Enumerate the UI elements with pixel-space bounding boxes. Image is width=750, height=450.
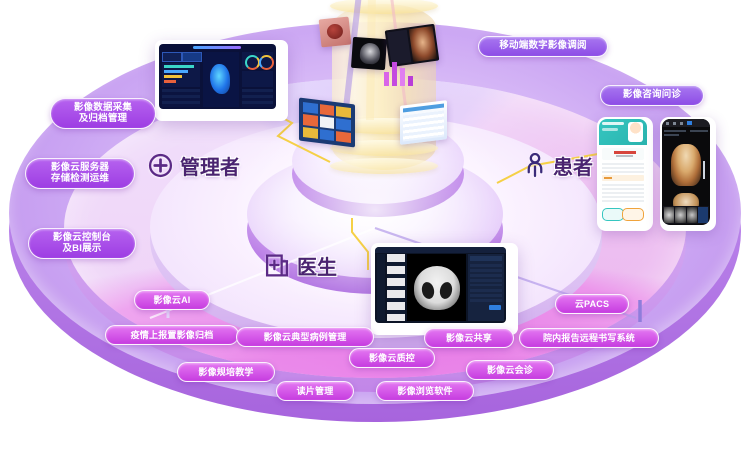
role-patient-label: 患者 bbox=[553, 151, 593, 180]
role-admin[interactable]: 管理者 bbox=[148, 151, 240, 180]
pill-doctor-cloud-sharing[interactable]: 影像云共享 bbox=[424, 328, 514, 348]
pill-doctor-epidemic-report[interactable]: 疫情上报置影像归档 bbox=[105, 325, 239, 345]
role-admin-label: 管理者 bbox=[180, 151, 240, 180]
infographic-canvas: 无极云 影像平台 管理者 患者 医生 bbox=[0, 0, 750, 450]
role-patient[interactable]: 患者 bbox=[524, 151, 593, 180]
pill-doctor-cloud-ai[interactable]: 影像云AI bbox=[134, 290, 210, 310]
device-phone-consult[interactable] bbox=[597, 117, 653, 231]
pill-admin-server-ops[interactable]: 影像云服务器 存储检测运维 bbox=[25, 158, 135, 189]
tower-screen-app-tiles bbox=[299, 98, 355, 148]
role-doctor[interactable]: 医生 bbox=[265, 251, 337, 280]
pill-doctor-typical-cases[interactable]: 影像云典型病例管理 bbox=[236, 327, 374, 347]
role-doctor-label: 医生 bbox=[297, 251, 337, 280]
medical-record-icon bbox=[265, 253, 290, 279]
pill-doctor-report-writing[interactable]: 院内报告远程书写系统 bbox=[519, 328, 659, 348]
platform-title-line1: 无极云 bbox=[318, 146, 488, 175]
tower-screen-datatable bbox=[400, 100, 447, 145]
person-icon bbox=[524, 153, 546, 178]
device-phone-3d-reconstruction[interactable] bbox=[660, 117, 716, 231]
pill-doctor-cloud-pacs[interactable]: 云PACS bbox=[555, 294, 629, 314]
platform-title-line2: 影像平台 bbox=[318, 175, 488, 204]
pill-doctor-training-teaching[interactable]: 影像规培教学 bbox=[177, 362, 275, 382]
device-pacs-viewer[interactable] bbox=[371, 243, 518, 335]
tower-screen-endoscopy bbox=[319, 17, 352, 48]
tower-screen-barchart bbox=[381, 50, 415, 92]
platform-title: 无极云 影像平台 bbox=[318, 146, 488, 204]
pill-patient-mobile-imaging[interactable]: 移动端数字影像调阅 bbox=[478, 36, 608, 57]
device-bi-dashboard[interactable] bbox=[155, 40, 288, 121]
pill-doctor-film-reading[interactable]: 读片管理 bbox=[276, 381, 354, 401]
pill-doctor-quality-control[interactable]: 影像云质控 bbox=[349, 348, 435, 368]
pill-doctor-cloud-consult[interactable]: 影像云会诊 bbox=[466, 360, 554, 380]
pill-admin-data-capture[interactable]: 影像数据采集 及归档管理 bbox=[50, 98, 156, 129]
pill-admin-console-bi[interactable]: 影像云控制台 及BI展示 bbox=[28, 228, 136, 259]
pill-doctor-viewer-software[interactable]: 影像浏览软件 bbox=[376, 381, 474, 401]
circle-plus-icon bbox=[148, 153, 173, 178]
pill-patient-consultation[interactable]: 影像咨询问诊 bbox=[600, 85, 704, 106]
